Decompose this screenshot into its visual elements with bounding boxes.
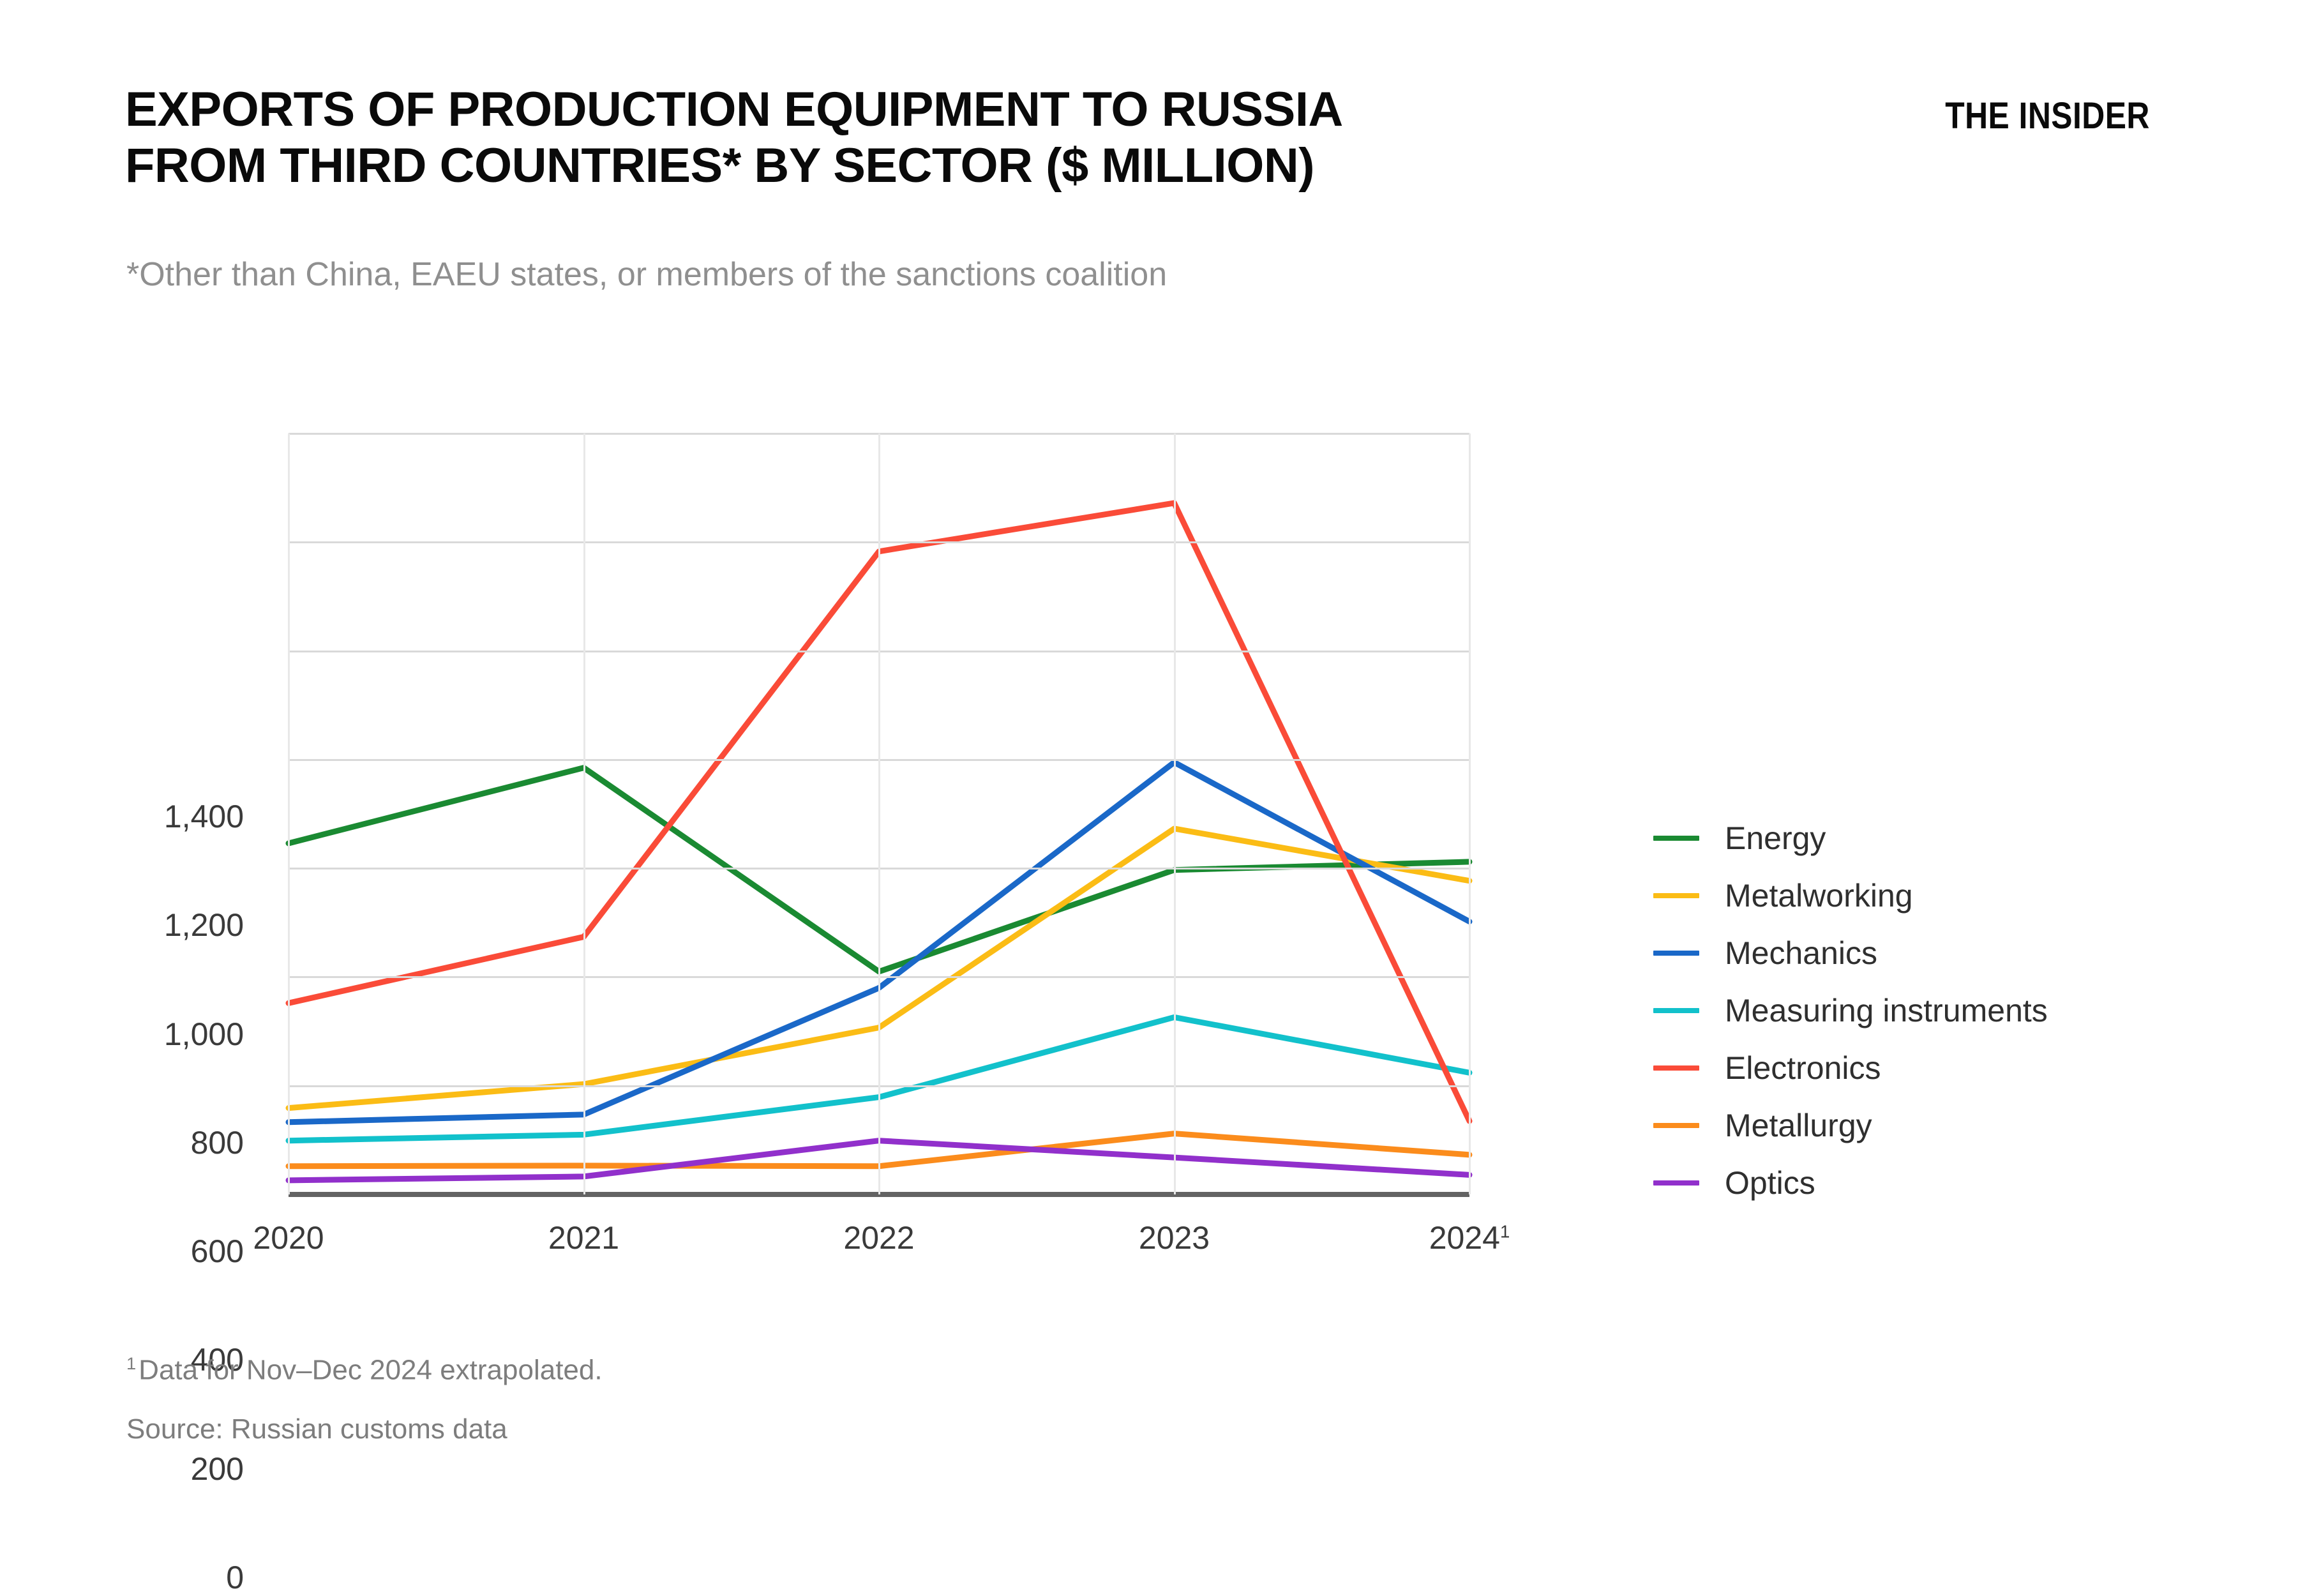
legend-item-label: Mechanics <box>1725 935 1877 972</box>
y-axis-tick-label: 800 <box>191 1124 244 1161</box>
chart-header: EXPORTS OF PRODUCTION EQUIPMENT TO RUSSI… <box>0 0 2298 332</box>
legend-item-metalworking[interactable]: Metalworking <box>1653 867 2228 924</box>
x-tick-superscript: 1 <box>1500 1221 1510 1241</box>
x-axis-tick-label: 2022 <box>843 1219 914 1256</box>
title-line-1: EXPORTS OF PRODUCTION EQUIPMENT TO RUSSI… <box>125 82 1670 138</box>
page-title: EXPORTS OF PRODUCTION EQUIPMENT TO RUSSI… <box>125 82 1670 194</box>
legend-swatch-icon <box>1653 1180 1699 1186</box>
legend-item-label: Measuring instruments <box>1725 992 2048 1029</box>
legend-item-label: Energy <box>1725 820 1826 857</box>
vertical-gridline <box>288 433 290 1194</box>
legend-item-optics[interactable]: Optics <box>1653 1154 2228 1212</box>
y-axis-tick-label: 1,200 <box>164 907 244 944</box>
x-axis-tick-label: 2021 <box>548 1219 619 1256</box>
plot-area <box>289 433 1469 1194</box>
legend-swatch-icon <box>1653 836 1699 841</box>
x-axis-tick-label: 2023 <box>1139 1219 1210 1256</box>
x-axis-tick-label: 2020 <box>253 1219 324 1256</box>
legend-swatch-icon <box>1653 1008 1699 1013</box>
legend-item-metallurgy[interactable]: Metallurgy <box>1653 1097 2228 1154</box>
vertical-gridline <box>583 433 585 1194</box>
footnote-marker: 1 <box>126 1353 136 1373</box>
brand-logo: THE INSIDER <box>1945 94 2150 137</box>
legend-item-energy[interactable]: Energy <box>1653 809 2228 867</box>
legend-swatch-icon <box>1653 1123 1699 1128</box>
legend-item-electronics[interactable]: Electronics <box>1653 1039 2228 1097</box>
footnotes: 1Data for Nov–Dec 2024 extrapolated. Sou… <box>126 1353 1658 1472</box>
footnote-extrapolated: 1Data for Nov–Dec 2024 extrapolated. <box>126 1353 1658 1387</box>
y-axis-tick-label: 1,000 <box>164 1016 244 1053</box>
footnote-text: Data for Nov–Dec 2024 extrapolated. <box>139 1355 602 1386</box>
vertical-gridline <box>1174 433 1176 1194</box>
y-axis-tick-label: 1,400 <box>164 798 244 835</box>
legend-item-label: Metallurgy <box>1725 1107 1872 1144</box>
legend-item-mechanics[interactable]: Mechanics <box>1653 924 2228 982</box>
legend-swatch-icon <box>1653 893 1699 898</box>
vertical-gridline <box>878 433 880 1194</box>
legend-item-measuring-instruments[interactable]: Measuring instruments <box>1653 982 2228 1039</box>
legend-swatch-icon <box>1653 1065 1699 1071</box>
chart-subtitle: *Other than China, EAEU states, or membe… <box>126 255 1167 294</box>
vertical-gridline <box>1469 433 1471 1194</box>
chart-legend: EnergyMetalworkingMechanicsMeasuring ins… <box>1653 809 2228 1212</box>
legend-item-label: Metalworking <box>1725 877 1913 914</box>
legend-item-label: Optics <box>1725 1164 1815 1201</box>
legend-swatch-icon <box>1653 951 1699 956</box>
y-axis-tick-label: 0 <box>226 1559 244 1596</box>
title-line-2: FROM THIRD COUNTRIES* BY SECTOR ($ MILLI… <box>125 138 1670 194</box>
legend-item-label: Electronics <box>1725 1050 1881 1087</box>
y-axis-tick-label: 600 <box>191 1233 244 1270</box>
x-axis-tick-label: 20241 <box>1429 1219 1510 1256</box>
footnote-source: Source: Russian customs data <box>126 1413 1658 1445</box>
